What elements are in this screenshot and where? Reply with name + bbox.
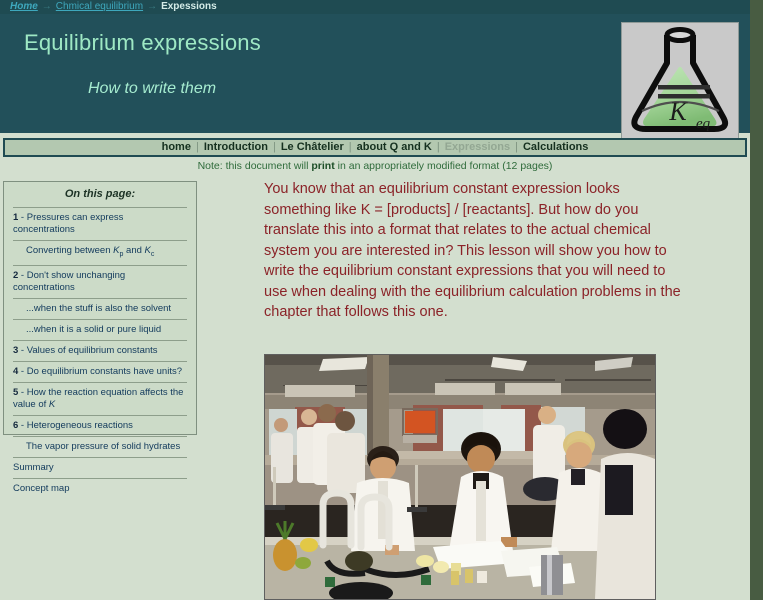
toc-item-dash: - (18, 270, 26, 281)
nav-item-about-q-and-k[interactable]: about Q and K (357, 141, 432, 153)
toc-item-dash: - (18, 366, 26, 377)
toc-item-dash: - (18, 387, 26, 398)
nav-separator: | (191, 141, 204, 153)
toc-item-label: Heterogeneous reactions (27, 420, 133, 431)
toc-item-converting-between-kp-and-kc[interactable]: Converting between Kp and Kc (13, 240, 187, 265)
page-title: Equilibrium expressions (24, 30, 261, 56)
toc-item-label: Don't show unchanging concentrations (13, 270, 125, 293)
flask-keq-logo: K eq (621, 22, 739, 140)
breadcrumb-arrow-2: → (143, 1, 161, 12)
toc-item-dash: - (18, 420, 26, 431)
nav-separator: | (268, 141, 281, 153)
nav-item-le-ch-telier[interactable]: Le Châtelier (281, 141, 344, 153)
print-note-emphasis: print (311, 160, 334, 172)
toc-item-label: Do equilibrium constants have units? (27, 366, 182, 377)
toc-item-heterogeneous-reactions[interactable]: 6 - Heterogeneous reactions (13, 415, 187, 436)
intro-paragraph: You know that an equilibrium constant ex… (264, 179, 682, 323)
nav-list: home|Introduction|Le Châtelier|about Q a… (5, 140, 745, 155)
header-text-block: Equilibrium expressions How to write the… (0, 14, 613, 133)
toc-item-values-of-equilibrium-constants[interactable]: 3 - Values of equilibrium constants (13, 340, 187, 361)
toc-item-label: ...when it is a solid or pure liquid (26, 324, 161, 335)
on-this-page-box: On this page: 1 - Pressures can express … (3, 181, 197, 435)
page-subtitle: How to write them (88, 80, 216, 98)
toc-item-when-it-is-a-solid-or-pure-liquid[interactable]: ...when it is a solid or pure liquid (13, 319, 187, 340)
nav-separator: | (510, 141, 523, 153)
toc-item-dash: - (18, 212, 26, 223)
toc-item-how-the-reaction-equation-affects-[interactable]: 5 - How the reaction equation affects th… (13, 382, 187, 415)
site-header: Equilibrium expressions How to write the… (0, 14, 750, 133)
toc-item-label: Summary (13, 462, 54, 473)
toc-item-label: ...when the stuff is also the solvent (26, 303, 171, 314)
nav-separator: | (432, 141, 445, 153)
nav-separator: | (344, 141, 357, 153)
toc-item-label: Values of equilibrium constants (27, 345, 158, 356)
toc-item-label: Concept map (13, 483, 70, 494)
breadcrumb: Home→Chmical equilibrium→Expessions (0, 0, 750, 14)
page-container: Home→Chmical equilibrium→Expessions Equi… (0, 0, 750, 600)
toc-item-pressures-can-express-concentratio[interactable]: 1 - Pressures can express concentrations (13, 207, 187, 240)
logo-k-label: K (668, 97, 688, 126)
lab-photo-illustration (265, 355, 655, 599)
toc-item-label: How the reaction equation affects the va… (13, 387, 183, 410)
toc-item-don-t-show-unchanging-concentratio[interactable]: 2 - Don't show unchanging concentrations (13, 265, 187, 298)
toc-item-dash: - (18, 345, 26, 356)
toc-item-summary[interactable]: Summary (13, 457, 187, 478)
breadcrumb-current: Expessions (161, 1, 217, 12)
toc-item-the-vapor-pressure-of-solid-hydrat[interactable]: The vapor pressure of solid hydrates (13, 436, 187, 457)
chemistry-lab-students-photo (264, 354, 656, 600)
toc-item-concept-map[interactable]: Concept map (13, 478, 187, 499)
nav-item-expressions: Expressions (445, 141, 510, 153)
print-note-before: Note: this document will (198, 160, 312, 172)
toc-item-when-the-stuff-is-also-the-solvent[interactable]: ...when the stuff is also the solvent (13, 298, 187, 319)
toc-item-label: Pressures can express concentrations (13, 212, 123, 235)
nav-item-home[interactable]: home (162, 141, 191, 153)
toc-item-do-equilibrium-constants-have-unit[interactable]: 4 - Do equilibrium constants have units? (13, 361, 187, 382)
toc-item-label: The vapor pressure of solid hydrates (26, 441, 180, 452)
main-navigation[interactable]: home|Introduction|Le Châtelier|about Q a… (3, 138, 747, 157)
breadcrumb-arrow-1: → (38, 1, 56, 12)
toc-item-label: Converting between Kp and Kc (26, 245, 154, 256)
print-note-after: in an appropriately modified format (12 … (335, 160, 553, 172)
logo-eq-subscript: eq (696, 116, 711, 132)
breadcrumb-parent-link[interactable]: Chmical equilibrium (56, 1, 143, 12)
nav-item-introduction[interactable]: Introduction (204, 141, 268, 153)
print-format-note: Note: this document will print in an app… (0, 160, 750, 172)
toc-title: On this page: (13, 188, 187, 200)
nav-item-calculations[interactable]: Calculations (523, 141, 588, 153)
breadcrumb-home-link[interactable]: Home (10, 1, 38, 12)
flask-icon: K eq (622, 23, 738, 139)
toc-list: 1 - Pressures can express concentrations… (13, 207, 187, 499)
